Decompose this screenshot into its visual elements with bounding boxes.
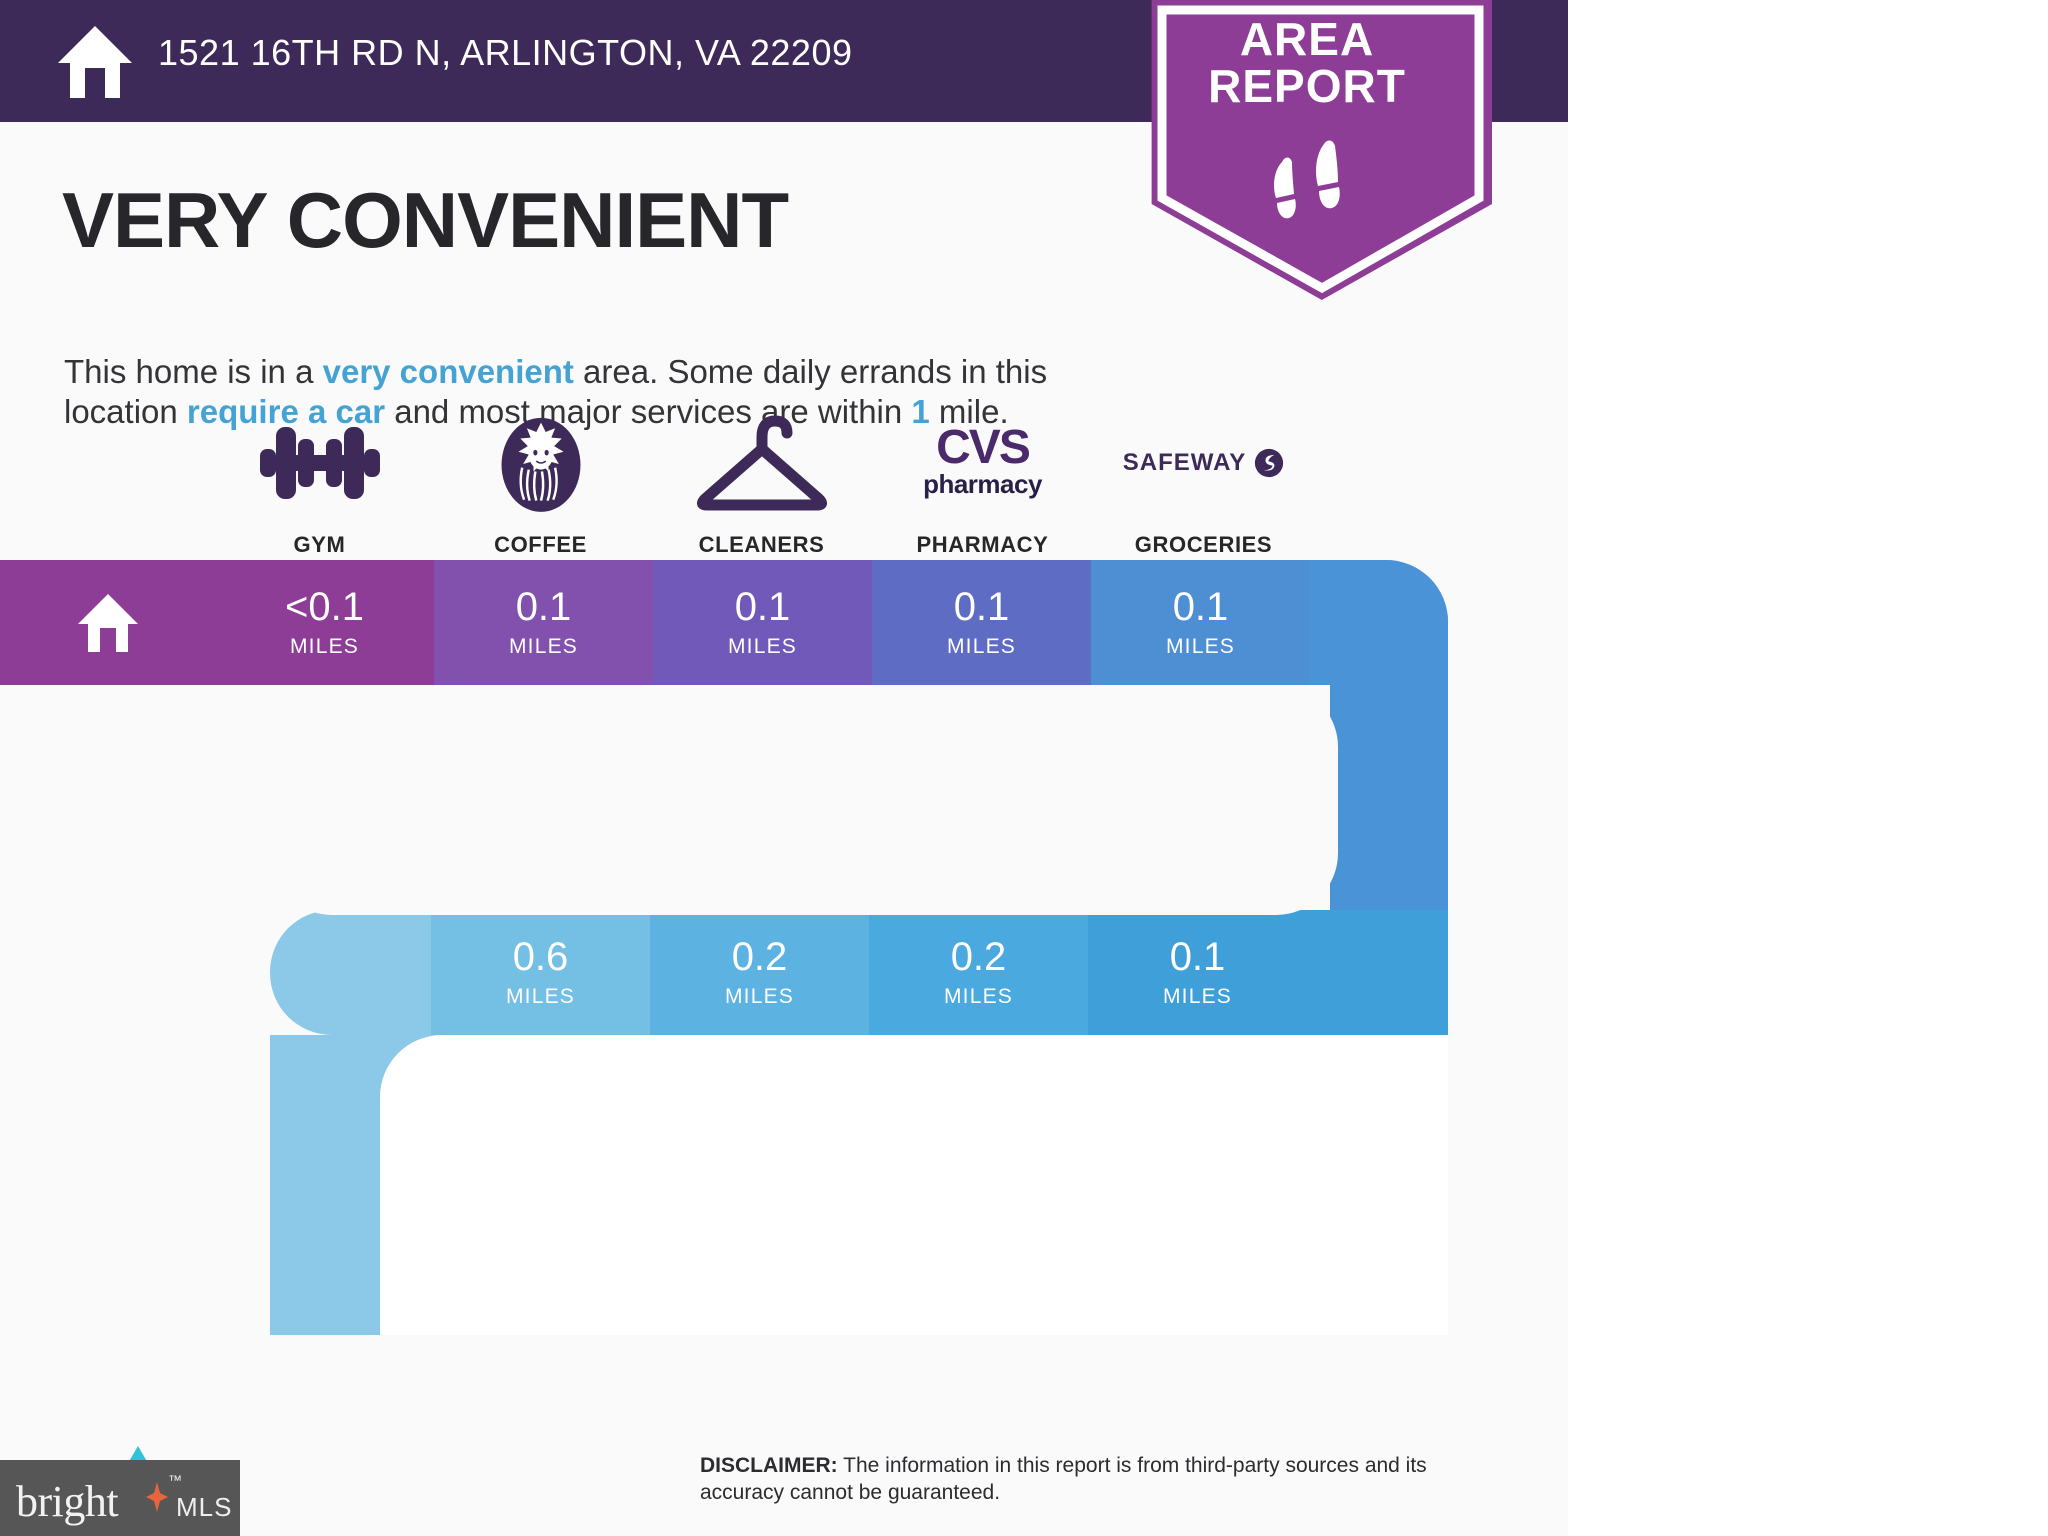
ribbon-lead [270,910,431,1035]
distance-value: 0.1 [1170,937,1226,977]
category-label: COFFEE [431,532,650,558]
footprints-icon [1262,140,1358,228]
blurb-part-1: This home is in a [64,353,323,390]
cvs-wordmark: CVS [936,426,1029,469]
distance-unit: MILES [506,985,575,1009]
house-icon [56,24,134,100]
distance-cell-medical: 0.2 MILES [869,910,1088,1035]
badge-title: AREA REPORT [1122,16,1492,110]
category-cleaners: CLEANERS [652,408,871,558]
category-row-1: GYM [210,408,1410,568]
category-label: GROCERIES [1094,532,1313,558]
distance-unit: MILES [947,635,1016,659]
distance-value: 0.6 [513,937,569,977]
safeway-s-mark [1254,448,1284,478]
trademark-symbol: ™ [168,1472,182,1488]
home-marker-segment [0,560,215,685]
badge-line-2: REPORT [1122,63,1492,110]
clothes-hanger-icon [652,408,871,518]
distance-ribbon-row-1: <0.1 MILES 0.1 MILES 0.1 MILES 0.1 MILES… [0,560,1448,685]
distance-unit: MILES [728,635,797,659]
distance-unit: MILES [944,985,1013,1009]
distance-value: 0.1 [735,587,791,627]
ribbon-tail [1310,560,1448,685]
distance-unit: MILES [290,635,359,659]
area-report-page: 1521 16TH RD N, ARLINGTON, VA 22209 AREA… [0,0,1568,1536]
home-icon [76,592,140,654]
distance-value: 0.2 [732,937,788,977]
cvs-pharmacy-logo: CVS pharmacy [873,408,1092,518]
distance-ribbon-row-2: 0.6 MILES 0.2 MILES 0.2 MILES 0.1 MILES [270,910,1448,1035]
ribbon-elbow-cutout [380,1035,1448,1335]
distance-value: 0.1 [1173,587,1229,627]
distance-cell-groceries: 0.1 MILES [1091,560,1310,685]
disclaimer-label: DISCLAIMER: [700,1454,838,1477]
distance-value: 0.2 [951,937,1007,977]
bright-spark-icon [146,1482,168,1512]
cvs-sub-wordmark: pharmacy [923,469,1042,500]
distance-cell-gas: 0.2 MILES [650,910,869,1035]
distance-unit: MILES [1163,985,1232,1009]
ribbon-tail [1307,910,1448,1035]
bright-wordmark: bright [16,1476,118,1527]
distance-value: 0.1 [954,587,1010,627]
safeway-wordmark: SAFEWAY [1123,449,1246,477]
dumbbell-icon [210,408,429,518]
distance-cell-atm: 0.1 MILES [1088,910,1307,1035]
distance-cell-coffee: 0.1 MILES [434,560,653,685]
distance-cell-movie-theater: 0.6 MILES [431,910,650,1035]
distance-value: <0.1 [285,587,364,627]
page-margin [1568,0,2048,1536]
distance-unit: MILES [1166,635,1235,659]
distance-cell-gym: <0.1 MILES [215,560,434,685]
disclaimer: DISCLAIMER: The information in this repo… [700,1452,1510,1507]
blurb-highlight-1: very convenient [323,353,574,390]
distance-value: 0.1 [516,587,572,627]
page-title: VERY CONVENIENT [62,175,788,266]
category-gym: GYM [210,408,429,558]
category-coffee: COFFEE [431,408,650,558]
category-label: CLEANERS [652,532,871,558]
badge-line-1: AREA [1122,16,1492,63]
category-label: PHARMACY [873,532,1092,558]
ribbon-notch [270,685,1338,915]
safeway-logo: SAFEWAY [1094,408,1313,518]
property-address: 1521 16TH RD N, ARLINGTON, VA 22209 [158,32,853,74]
mls-wordmark: MLS [176,1492,232,1523]
category-groceries: SAFEWAY GROCERIES [1094,408,1313,558]
category-label: GYM [210,532,429,558]
category-pharmacy: CVS pharmacy PHARMACY [873,408,1092,558]
distance-unit: MILES [509,635,578,659]
starbucks-logo [431,408,650,518]
distance-cell-cleaners: 0.1 MILES [653,560,872,685]
distance-cell-pharmacy: 0.1 MILES [872,560,1091,685]
distance-unit: MILES [725,985,794,1009]
